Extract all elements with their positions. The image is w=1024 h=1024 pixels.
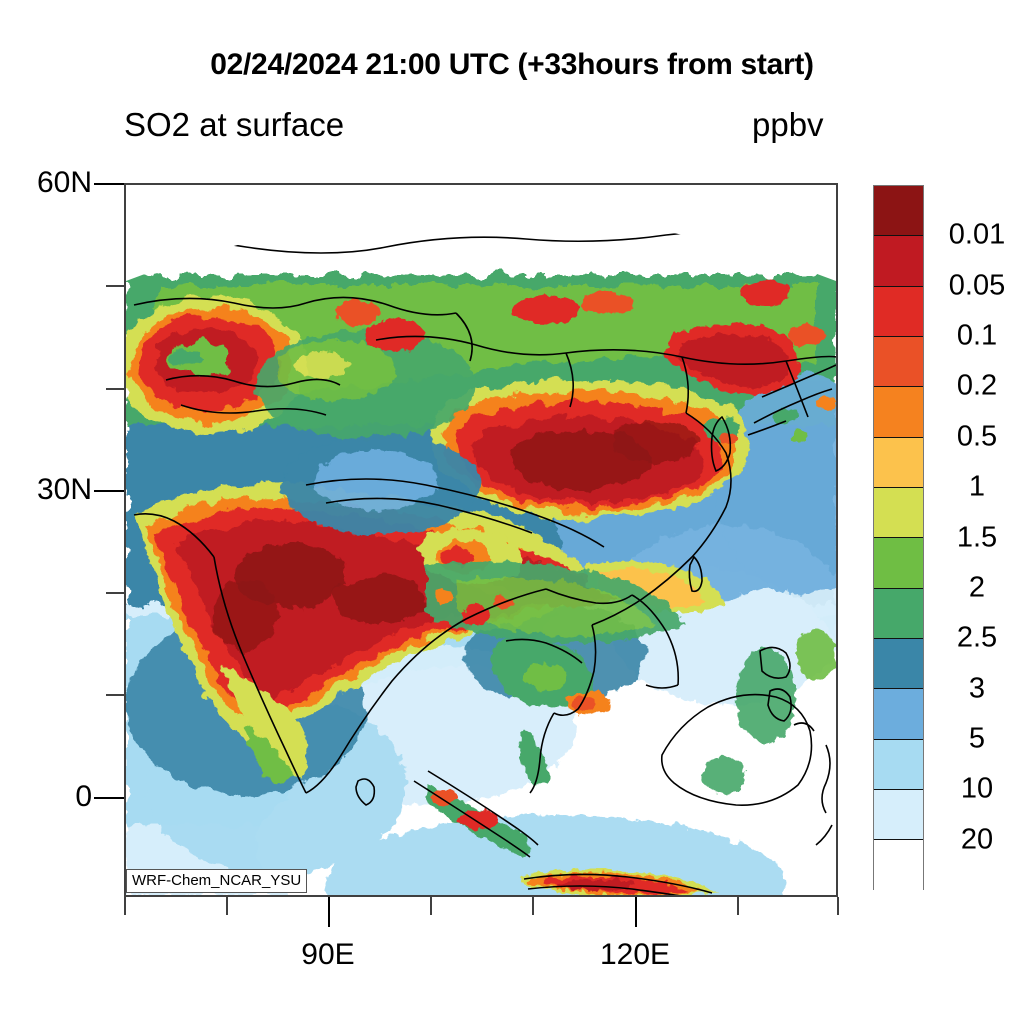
colorbar-tick-label: 2.5	[930, 622, 1024, 655]
xtick-minor-6	[837, 897, 839, 915]
colorbar-band	[874, 589, 923, 639]
colorbar-tick-label: 1	[930, 471, 1024, 504]
colorbar-tick-label: 0.05	[930, 269, 1024, 302]
units-label: ppbv	[752, 106, 824, 144]
ytick-label-0: 0	[0, 780, 92, 814]
xtick-label-120e: 120E	[565, 938, 705, 972]
xtick-minor-1	[124, 897, 126, 915]
colorbar-tick-label: 0.1	[930, 320, 1024, 353]
colorbar-tick-label: 5	[930, 722, 1024, 755]
map-plot-area	[124, 183, 838, 897]
colorbar-band	[874, 689, 923, 739]
ytick-minor-3	[106, 592, 124, 594]
colorbar-band	[874, 488, 923, 538]
colorbar-band	[874, 639, 923, 689]
colorbar-tick-label: 1.5	[930, 521, 1024, 554]
xtick-minor-2	[226, 897, 228, 915]
ytick-minor-2	[106, 388, 124, 390]
colorbar-band	[874, 840, 923, 890]
ytick-label-30n: 30N	[0, 473, 92, 507]
xtick-major-120e	[635, 897, 637, 927]
colorbar-band	[874, 337, 923, 387]
map-canvas	[126, 185, 836, 895]
colorbar-tick-label: 3	[930, 672, 1024, 705]
colorbar-tick-label: 2	[930, 571, 1024, 604]
ytick-minor-4	[106, 694, 124, 696]
colorbar-band	[874, 740, 923, 790]
colorbar-band	[874, 186, 923, 236]
colorbar-band	[874, 538, 923, 588]
model-attribution-label: WRF-Chem_NCAR_YSU	[126, 869, 307, 893]
colorbar-tick-label: 20	[930, 823, 1024, 856]
xtick-label-90e: 90E	[258, 938, 398, 972]
xtick-minor-4	[532, 897, 534, 915]
colorbar-tick-label: 0.01	[930, 219, 1024, 252]
colorbar-band	[874, 790, 923, 840]
colorbar-band	[874, 287, 923, 337]
colorbar-band	[874, 387, 923, 437]
ytick-label-60n: 60N	[0, 166, 92, 200]
colorbar-band	[874, 438, 923, 488]
ytick-minor-1	[106, 285, 124, 287]
xtick-minor-5	[737, 897, 739, 915]
colorbar	[873, 185, 924, 890]
colorbar-band	[874, 236, 923, 286]
variable-label: SO2 at surface	[124, 106, 344, 144]
ytick-major-30n	[94, 490, 124, 492]
colorbar-tick-label: 10	[930, 773, 1024, 806]
xtick-minor-3	[430, 897, 432, 915]
colorbar-tick-label: 0.2	[930, 370, 1024, 403]
xtick-major-90e	[328, 897, 330, 927]
colorbar-tick-label: 0.5	[930, 420, 1024, 453]
map-raster	[126, 185, 836, 895]
ytick-major-0	[94, 797, 124, 799]
page-title: 02/24/2024 21:00 UTC (+33hours from star…	[0, 48, 1024, 82]
ytick-major-60n	[94, 183, 124, 185]
